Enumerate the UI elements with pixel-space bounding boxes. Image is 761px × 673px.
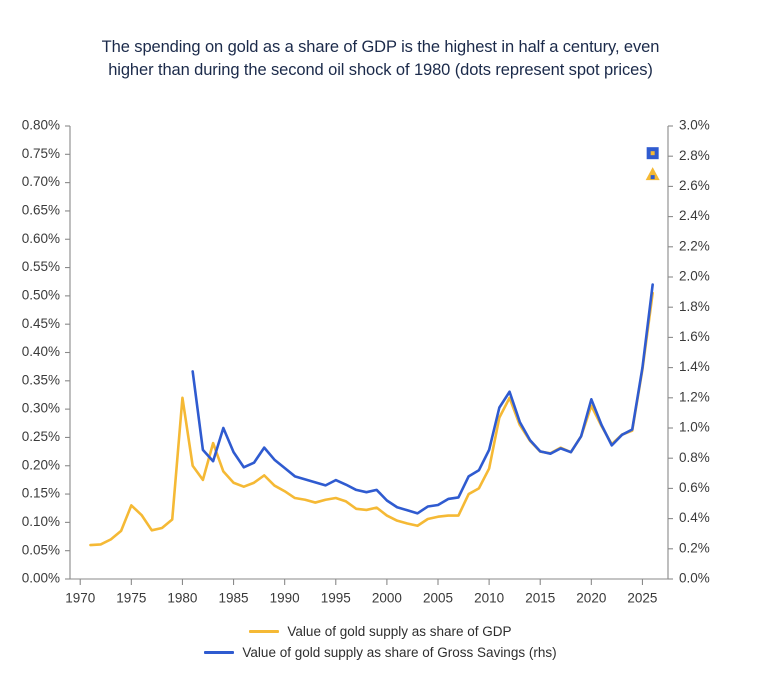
left-axis-tick-label: 0.55% bbox=[22, 259, 60, 274]
right-axis-tick-label: 1.8% bbox=[679, 299, 710, 314]
right-axis-tick-label: 0.4% bbox=[679, 510, 710, 525]
right-axis-tick-label: 0.8% bbox=[679, 450, 710, 465]
x-axis-ticks: 1970197519801985199019952000200520102015… bbox=[65, 579, 657, 606]
x-axis-tick-label: 1985 bbox=[219, 591, 249, 606]
left-axis-tick-label: 0.75% bbox=[22, 146, 60, 161]
x-axis-tick-label: 1995 bbox=[321, 591, 351, 606]
right-axis-ticks: 0.0%0.2%0.4%0.6%0.8%1.0%1.2%1.4%1.6%1.8%… bbox=[668, 118, 710, 586]
right-axis-tick-label: 0.2% bbox=[679, 540, 710, 555]
right-axis-tick-label: 1.6% bbox=[679, 329, 710, 344]
legend-label-gross-savings: Value of gold supply as share of Gross S… bbox=[242, 645, 556, 660]
axis-spines bbox=[70, 126, 668, 579]
right-axis-tick-label: 2.0% bbox=[679, 269, 710, 284]
plot-area: 0.00%0.05%0.10%0.15%0.20%0.25%0.30%0.35%… bbox=[0, 0, 761, 673]
line-chart-svg: 0.00%0.05%0.10%0.15%0.20%0.25%0.30%0.35%… bbox=[0, 0, 761, 673]
right-axis-tick-label: 0.0% bbox=[679, 571, 710, 586]
right-axis-tick-label: 1.2% bbox=[679, 389, 710, 404]
x-axis-tick-label: 2020 bbox=[576, 591, 606, 606]
right-axis-tick-label: 3.0% bbox=[679, 118, 710, 133]
left-axis-tick-label: 0.35% bbox=[22, 372, 60, 387]
left-axis-tick-label: 0.40% bbox=[22, 344, 60, 359]
series-line-gdp bbox=[90, 293, 652, 545]
legend-label-gdp: Value of gold supply as share of GDP bbox=[287, 624, 511, 639]
left-axis-tick-label: 0.00% bbox=[22, 571, 60, 586]
left-axis-tick-label: 0.20% bbox=[22, 457, 60, 472]
chart-legend: Value of gold supply as share of GDP Val… bbox=[0, 624, 761, 660]
left-axis-tick-label: 0.60% bbox=[22, 231, 60, 246]
left-axis-tick-label: 0.45% bbox=[22, 316, 60, 331]
spot-price-marker-gross-savings bbox=[647, 147, 659, 159]
right-axis-tick-label: 0.6% bbox=[679, 480, 710, 495]
left-axis-tick-label: 0.65% bbox=[22, 203, 60, 218]
left-axis-tick-label: 0.25% bbox=[22, 429, 60, 444]
left-axis-tick-label: 0.80% bbox=[22, 118, 60, 133]
left-axis-ticks: 0.00%0.05%0.10%0.15%0.20%0.25%0.30%0.35%… bbox=[22, 118, 70, 586]
x-axis-tick-label: 1990 bbox=[270, 591, 300, 606]
legend-item-gdp: Value of gold supply as share of GDP bbox=[249, 624, 511, 639]
right-axis-tick-label: 2.6% bbox=[679, 178, 710, 193]
x-axis-tick-label: 2025 bbox=[627, 591, 657, 606]
left-axis-tick-label: 0.15% bbox=[22, 486, 60, 501]
x-axis-tick-label: 2010 bbox=[474, 591, 504, 606]
series-line-gross-savings bbox=[193, 285, 653, 514]
left-axis-tick-label: 0.05% bbox=[22, 542, 60, 557]
right-axis-tick-label: 1.4% bbox=[679, 359, 710, 374]
left-axis-tick-label: 0.30% bbox=[22, 401, 60, 416]
x-axis-tick-label: 1975 bbox=[116, 591, 146, 606]
left-axis-tick-label: 0.10% bbox=[22, 514, 60, 529]
x-axis-tick-label: 1980 bbox=[167, 591, 197, 606]
left-axis-tick-label: 0.70% bbox=[22, 174, 60, 189]
chart-figure: The spending on gold as a share of GDP i… bbox=[0, 0, 761, 673]
x-axis-tick-label: 2000 bbox=[372, 591, 402, 606]
left-axis-tick-label: 0.50% bbox=[22, 287, 60, 302]
right-axis-tick-label: 2.2% bbox=[679, 238, 710, 253]
legend-swatch-gross-savings bbox=[204, 651, 234, 654]
x-axis-tick-label: 1970 bbox=[65, 591, 95, 606]
x-axis-tick-label: 2015 bbox=[525, 591, 555, 606]
right-axis-tick-label: 2.4% bbox=[679, 208, 710, 223]
legend-swatch-gdp bbox=[249, 630, 279, 633]
legend-item-gross-savings: Value of gold supply as share of Gross S… bbox=[204, 645, 556, 660]
right-axis-tick-label: 2.8% bbox=[679, 148, 710, 163]
x-axis-tick-label: 2005 bbox=[423, 591, 453, 606]
right-axis-tick-label: 1.0% bbox=[679, 420, 710, 435]
spot-price-marker-gdp bbox=[646, 167, 660, 180]
